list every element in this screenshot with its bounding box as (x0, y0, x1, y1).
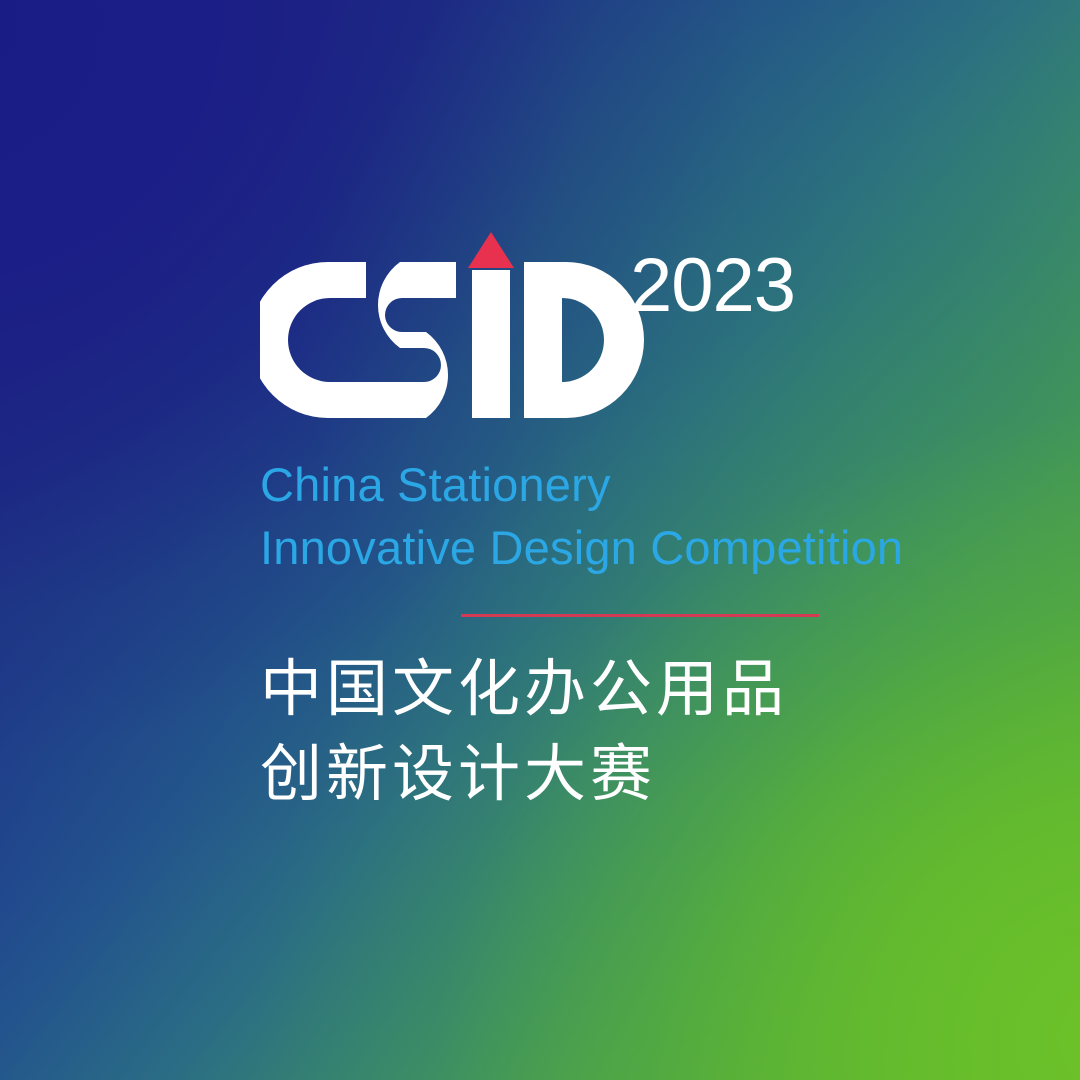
csid-letters-svg (260, 232, 660, 432)
csid-wordmark: 2023 (260, 232, 800, 432)
letter-i-glyph (472, 270, 510, 418)
english-subtitle: China Stationery Innovative Design Compe… (260, 454, 1020, 580)
logo-year: 2023 (630, 248, 795, 324)
english-subtitle-line-1: China Stationery (260, 454, 1020, 517)
poster-canvas: 2023 China Stationery Innovative Design … (0, 0, 1080, 1080)
letter-s-glyph (364, 262, 456, 418)
pencil-tip-triangle-icon (468, 232, 514, 268)
divider-rule (461, 614, 819, 617)
chinese-title: 中国文化办公用品 创新设计大赛 (260, 647, 1020, 818)
chinese-title-line-1: 中国文化办公用品 (260, 647, 1020, 733)
english-subtitle-line-2: Innovative Design Competition (260, 517, 1020, 580)
content-block: 2023 China Stationery Innovative Design … (260, 232, 1020, 818)
letter-d-glyph (524, 262, 644, 418)
chinese-title-line-2: 创新设计大赛 (260, 732, 1020, 818)
letter-c-glyph (260, 262, 366, 418)
